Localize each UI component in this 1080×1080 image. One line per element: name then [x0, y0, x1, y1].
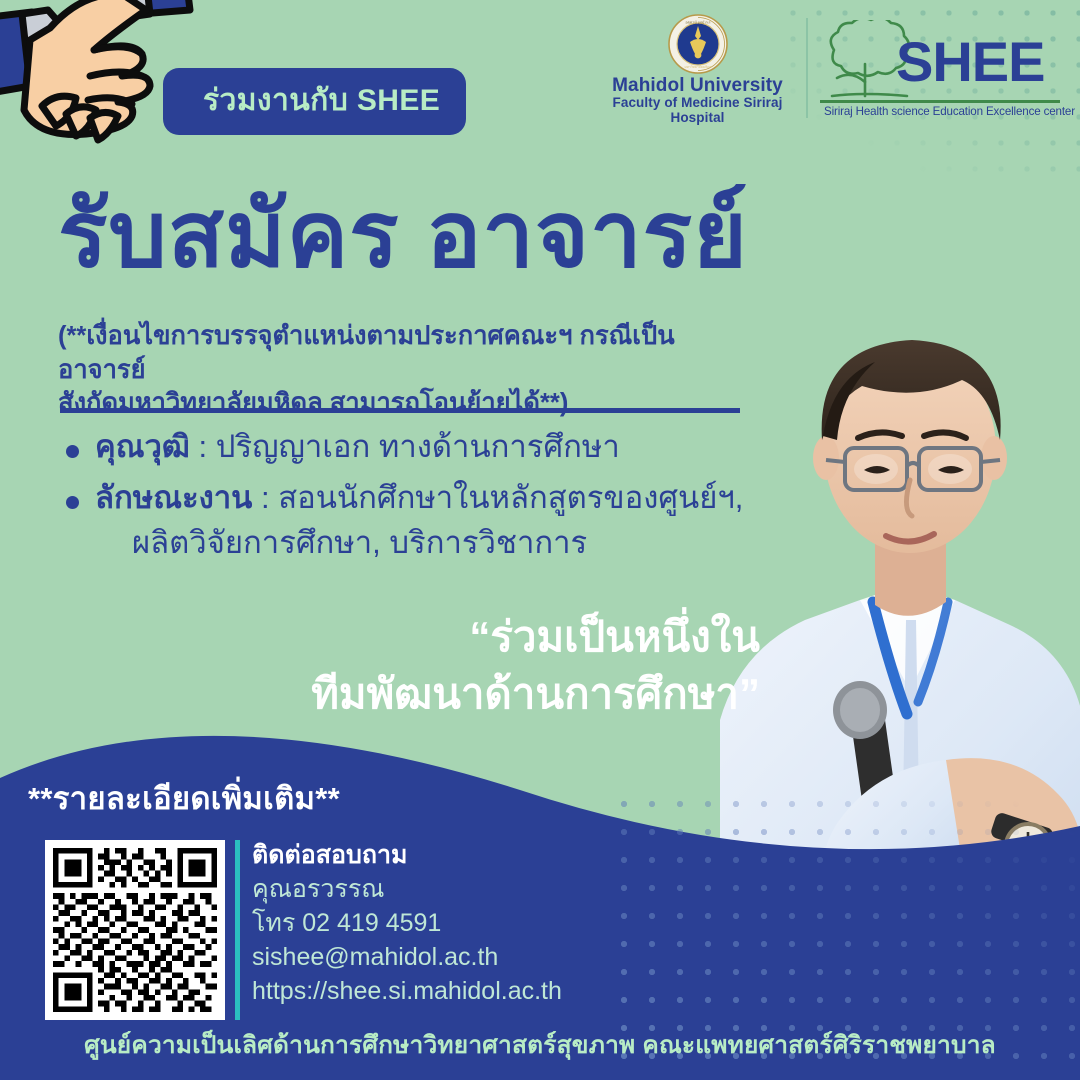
- list-item: ลักษณะงาน : สอนนักศึกษาในหลักสูตรของศูนย…: [58, 476, 848, 566]
- qr-code-image: [53, 848, 217, 1012]
- footer-text: ศูนย์ความเป็นเลิศด้านการศึกษาวิทยาศาสตร์…: [0, 1025, 1080, 1064]
- shee-logo: SHEE Siriraj Health science Education Ex…: [818, 20, 1063, 125]
- shee-tagline: Siriraj Health science Education Excelle…: [824, 105, 1075, 118]
- contact-divider: [235, 840, 240, 1020]
- job-description-value: สอนนักศึกษาในหลักสูตรของศูนย์ฯ,: [278, 480, 743, 515]
- more-details-label: **รายละเอียดเพิ่มเติม**: [28, 773, 340, 823]
- conditions-note-line1: (**เงื่อนไขการบรรจุตำแหน่งตามประกาศคณะฯ …: [58, 320, 758, 387]
- mahidol-logo: อตฺตานํ อุปมํ กเร มหาวิทยาลัยมหิดล Mahid…: [590, 14, 805, 124]
- header-banner: ร่วมงานกับ SHEE: [163, 68, 466, 135]
- qualification-text: คุณวุฒิ : ปริญญาเอก ทางด้านการศึกษา: [95, 425, 620, 470]
- qualification-label: คุณวุฒิ: [95, 429, 190, 464]
- logo-divider: [806, 18, 808, 118]
- qualification-separator: :: [190, 429, 216, 464]
- contact-heading: ติดต่อสอบถาม: [252, 838, 562, 872]
- pull-quote-line1: “ร่วมเป็นหนึ่งใน: [0, 608, 760, 665]
- mahidol-seal-icon: อตฺตานํ อุปมํ กเร มหาวิทยาลัยมหิดล: [668, 14, 728, 74]
- poster-canvas: ร่วมงานกับ SHEE อตฺตานํ อุปมํ กเร มหาวิท…: [0, 0, 1080, 1080]
- conditions-note-line2: สังกัดมหาวิทยาลัยมหิดล สามารถโอนย้ายได้*…: [58, 387, 758, 421]
- contact-block: ติดต่อสอบถาม คุณอรวรรณ โทร 02 419 4591 s…: [252, 838, 562, 1008]
- mahidol-name: Mahidol University: [590, 76, 805, 96]
- job-description-separator: :: [252, 480, 278, 515]
- page-title: รับสมัคร อาจารย์: [58, 186, 748, 285]
- job-description-label: ลักษณะงาน: [95, 480, 252, 515]
- mahidol-faculty: Faculty of Medicine Siriraj Hospital: [590, 96, 805, 126]
- section-divider: [60, 408, 740, 413]
- contact-website[interactable]: https://shee.si.mahidol.ac.th: [252, 974, 562, 1008]
- qualification-value: ปริญญาเอก ทางด้านการศึกษา: [216, 429, 620, 464]
- job-description-continuation: ผลิตวิจัยการศึกษา, บริการวิชาการ: [132, 521, 743, 566]
- job-description-block: ลักษณะงาน : สอนนักศึกษาในหลักสูตรของศูนย…: [95, 476, 743, 566]
- conditions-note: (**เงื่อนไขการบรรจุตำแหน่งตามประกาศคณะฯ …: [58, 320, 758, 421]
- shee-underline: [820, 100, 1060, 103]
- bullet-dot-icon: [66, 496, 79, 509]
- job-description-text: ลักษณะงาน : สอนนักศึกษาในหลักสูตรของศูนย…: [95, 476, 743, 521]
- bullet-dot-icon: [66, 445, 79, 458]
- contact-person: คุณอรวรรณ: [252, 872, 562, 906]
- requirements-list: คุณวุฒิ : ปริญญาเอก ทางด้านการศึกษา ลักษ…: [58, 425, 848, 572]
- contact-phone[interactable]: โทร 02 419 4591: [252, 906, 562, 940]
- list-item: คุณวุฒิ : ปริญญาเอก ทางด้านการศึกษา: [58, 425, 848, 470]
- qr-code[interactable]: [45, 840, 225, 1020]
- shee-wordmark: SHEE: [896, 34, 1045, 90]
- contact-email[interactable]: sishee@mahidol.ac.th: [252, 940, 562, 974]
- svg-text:มหาวิทยาลัยมหิดล: มหาวิทยาลัยมหิดล: [684, 65, 711, 69]
